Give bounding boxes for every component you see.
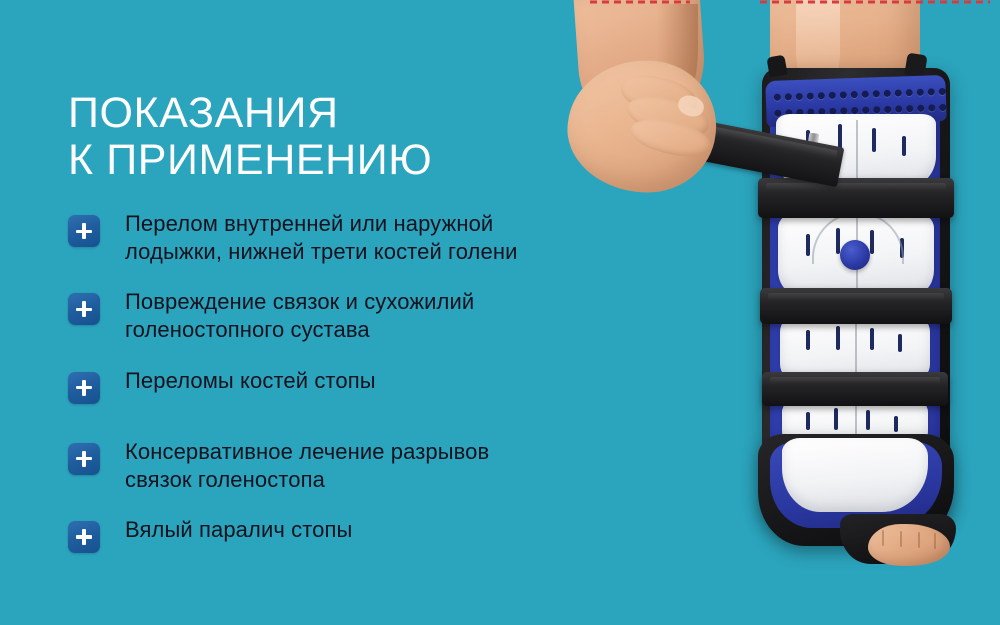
perforation-dot xyxy=(895,89,902,96)
list-item: Перелом внутренней или наружной лодыжки,… xyxy=(68,210,688,266)
vent-slot xyxy=(806,412,810,430)
perforation-dot xyxy=(851,91,858,98)
perforation-dot xyxy=(840,91,847,98)
velcro-strap-upper xyxy=(758,178,954,218)
velcro-strap-middle xyxy=(760,288,952,324)
list-item: Переломы костей стопы xyxy=(68,367,688,404)
panel-seam xyxy=(856,120,858,178)
perforation-dot xyxy=(939,104,946,111)
shell-tab-right xyxy=(904,53,927,78)
perforation-dot xyxy=(906,89,913,96)
vent-slot xyxy=(894,416,898,432)
list-item-label: Вялый паралич стопы xyxy=(125,516,352,544)
foot-rigid-panel xyxy=(782,438,928,512)
vent-slot xyxy=(834,408,838,430)
vent-slot xyxy=(806,330,810,350)
perforation-dot xyxy=(873,90,880,97)
list-item: Повреждение связок и сухожилий голеносто… xyxy=(68,288,688,344)
toe-separation xyxy=(882,530,884,546)
page-title: ПОКАЗАНИЯ К ПРИМЕНЕНИЮ xyxy=(68,90,608,184)
plus-icon xyxy=(68,215,100,247)
velcro-strap-lower xyxy=(762,372,948,406)
perforation-dot xyxy=(939,88,946,95)
perforation-dot xyxy=(862,91,869,98)
list-item-label: Перелом внутренней или наружной лодыжки,… xyxy=(125,210,517,266)
perforation-dot xyxy=(807,92,814,99)
toe-separation xyxy=(900,531,902,547)
vent-slot xyxy=(836,326,840,350)
perforation-dot xyxy=(884,106,891,113)
perforation-dot xyxy=(796,93,803,100)
perforation-dot xyxy=(774,94,781,101)
perforation-dot xyxy=(873,106,880,113)
perforation-dot xyxy=(829,92,836,99)
perforation-dot xyxy=(818,92,825,99)
panel-seam xyxy=(855,320,857,374)
list-item: Вялый паралич стопы xyxy=(68,516,688,553)
photo-top-edge-dashes xyxy=(560,0,1000,4)
plus-icon xyxy=(68,521,100,553)
vent-slot xyxy=(866,410,870,430)
list-item: Консервативное лечение разрывов связок г… xyxy=(68,438,688,494)
vent-slot xyxy=(902,136,906,156)
toe-separation xyxy=(934,533,936,549)
promo-slide: ПОКАЗАНИЯ К ПРИМЕНЕНИЮ Перелом внутренне… xyxy=(0,0,1000,625)
perforation-dot xyxy=(862,107,869,114)
perforation-dot xyxy=(917,89,924,96)
perforation-dot xyxy=(917,105,924,112)
vent-slot xyxy=(872,128,876,152)
plus-icon xyxy=(68,443,100,475)
perforation-dot xyxy=(928,104,935,111)
perforation-dot xyxy=(884,90,891,97)
list-item-label: Повреждение связок и сухожилий голеносто… xyxy=(125,288,474,344)
vent-slot xyxy=(870,328,874,350)
hinge-pivot xyxy=(840,240,870,270)
perforation-dot xyxy=(906,105,913,112)
perforation-dot xyxy=(928,88,935,95)
perforation-dot xyxy=(785,93,792,100)
shell-tab-left xyxy=(766,55,787,78)
list-item-label: Консервативное лечение разрывов связок г… xyxy=(125,438,489,494)
list-item-label: Переломы костей стопы xyxy=(125,367,376,395)
plus-icon xyxy=(68,293,100,325)
perforation-dot xyxy=(895,105,902,112)
indications-list: Перелом внутренней или наружной лодыжки,… xyxy=(68,210,688,575)
vent-slot xyxy=(898,334,902,352)
vent-slot xyxy=(806,234,810,256)
plus-icon xyxy=(68,372,100,404)
toe-separation xyxy=(918,532,920,548)
toes xyxy=(868,524,950,566)
